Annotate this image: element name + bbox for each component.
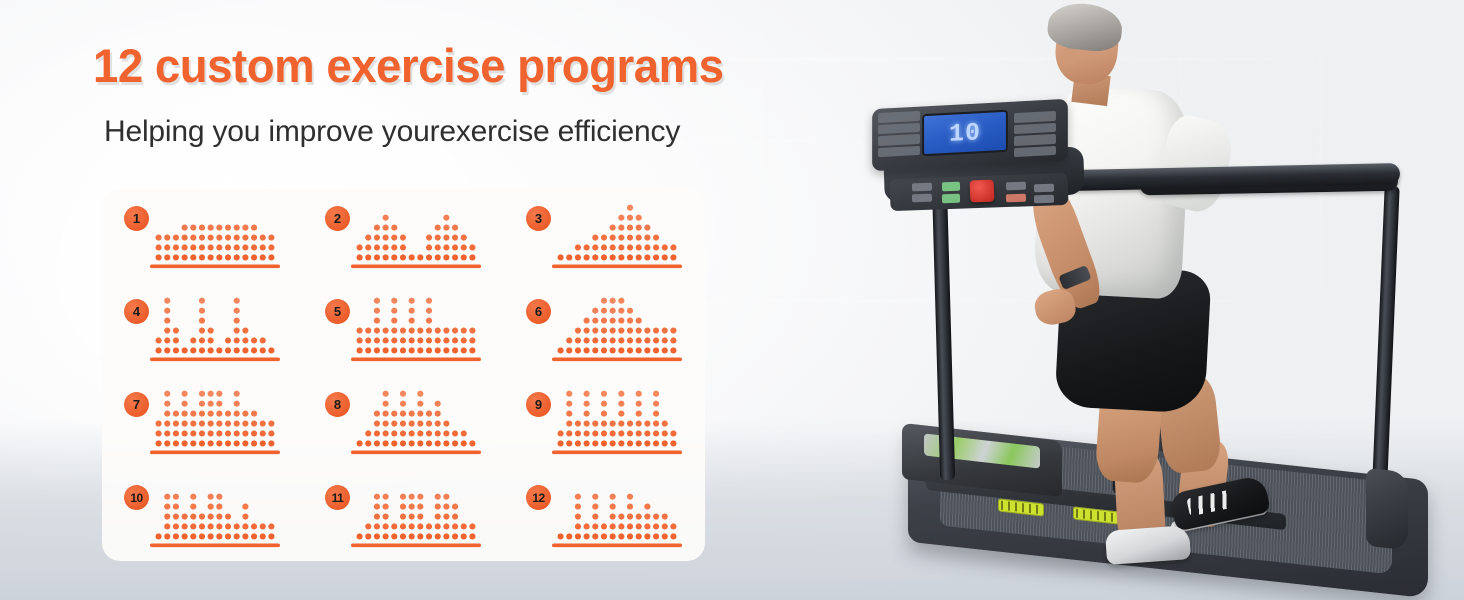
program-profile-chart: [351, 476, 481, 552]
program-number-badge: 10: [124, 485, 149, 510]
control-button[interactable]: [912, 183, 932, 192]
program-number-badge: 7: [124, 392, 149, 417]
console-keypad-right[interactable]: [1014, 111, 1056, 157]
belt-roller: [1366, 468, 1408, 551]
console-key[interactable]: [878, 134, 920, 146]
console-lcd-display: 10: [922, 110, 1008, 157]
program-profile-chart: [552, 383, 682, 459]
program-number-badge: 11: [325, 485, 350, 510]
program-profile-chart: [552, 476, 682, 552]
program-4[interactable]: 4: [102, 282, 303, 375]
console-key[interactable]: [1014, 122, 1056, 134]
speed-down-button[interactable]: [942, 194, 960, 204]
program-profile-chart: [150, 383, 280, 459]
control-button[interactable]: [1034, 195, 1054, 204]
control-button[interactable]: [1006, 194, 1026, 203]
program-profile-chart: [150, 197, 280, 273]
exercise-programs-panel: 123456789101112: [102, 189, 705, 561]
background-streak: [760, 0, 762, 300]
program-6[interactable]: 6: [504, 282, 705, 375]
program-10[interactable]: 10: [102, 468, 303, 561]
console-key[interactable]: [1014, 111, 1056, 123]
console-key[interactable]: [878, 111, 920, 123]
console-key[interactable]: [878, 122, 920, 134]
program-profile-chart: [150, 476, 280, 552]
program-number-badge: 4: [124, 299, 149, 324]
page-subtitle: Helping you improve yourexercise efficie…: [104, 115, 680, 149]
person-shoe-left: [1105, 525, 1191, 565]
exercise-programs-grid: 123456789101112: [102, 189, 705, 561]
console-key[interactable]: [1014, 134, 1056, 146]
program-2[interactable]: 2: [303, 189, 504, 282]
program-8[interactable]: 8: [303, 375, 504, 468]
program-1[interactable]: 1: [102, 189, 303, 282]
emergency-stop-button[interactable]: [970, 180, 995, 203]
program-number-badge: 2: [325, 206, 350, 231]
program-profile-chart: [351, 290, 481, 366]
control-button[interactable]: [1006, 182, 1026, 191]
program-12[interactable]: 12: [504, 468, 705, 561]
program-11[interactable]: 11: [303, 468, 504, 561]
speed-up-button[interactable]: [942, 182, 960, 192]
program-number-badge: 8: [325, 392, 350, 417]
page-title: 12 custom exercise programs: [93, 38, 724, 93]
program-number-badge: 5: [325, 299, 350, 324]
program-profile-chart: [150, 290, 280, 366]
program-5[interactable]: 5: [303, 282, 504, 375]
control-button[interactable]: [1034, 184, 1054, 193]
program-number-badge: 3: [526, 206, 551, 231]
program-profile-chart: [351, 383, 481, 459]
control-button[interactable]: [912, 194, 932, 203]
program-number-badge: 1: [124, 206, 149, 231]
program-3[interactable]: 3: [504, 189, 705, 282]
frame-post-back-right: [1371, 186, 1399, 506]
program-profile-chart: [552, 290, 682, 366]
program-profile-chart: [351, 197, 481, 273]
program-9[interactable]: 9: [504, 375, 705, 468]
program-profile-chart: [552, 197, 682, 273]
console-keypad-left[interactable]: [878, 111, 920, 157]
treadmill-product-photo: 10: [830, 0, 1464, 600]
program-number-badge: 12: [526, 485, 551, 510]
console-display-value: 10: [949, 118, 981, 149]
program-number-badge: 9: [526, 392, 551, 417]
program-number-badge: 6: [526, 299, 551, 324]
program-7[interactable]: 7: [102, 375, 303, 468]
